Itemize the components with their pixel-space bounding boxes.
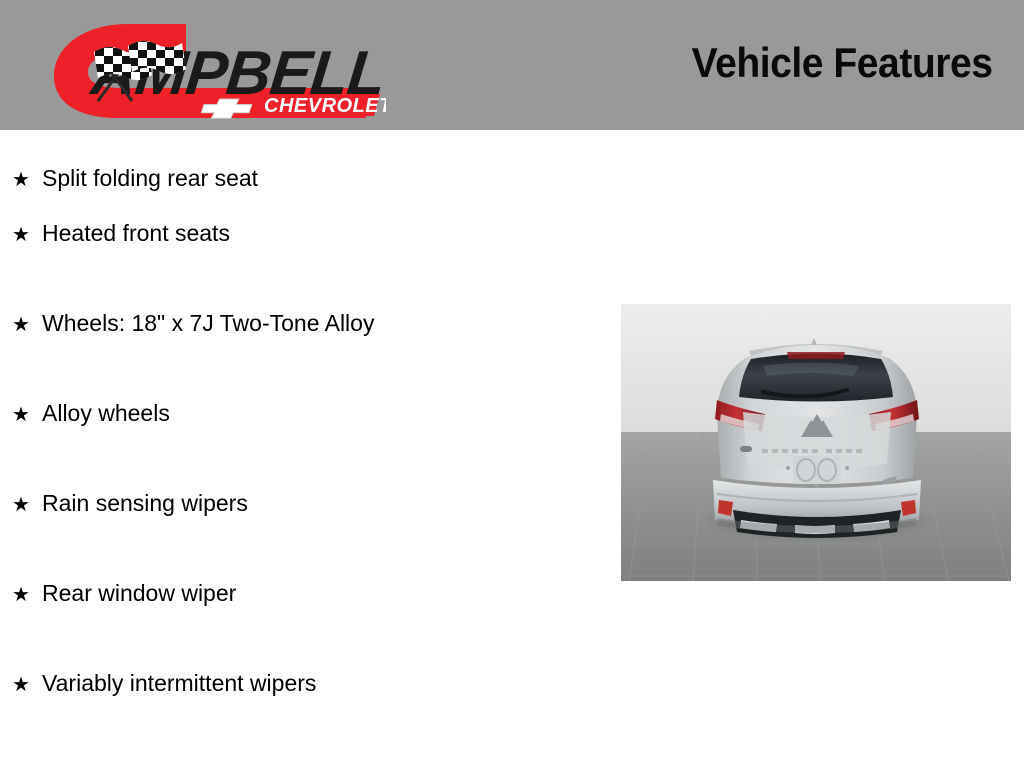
feature-label: Wheels: 18" x 7J Two-Tone Alloy xyxy=(42,310,600,336)
hatch-handle xyxy=(740,446,752,452)
vehicle-rear-photo xyxy=(621,304,1011,581)
logo-chevrolet-banner: CHEVROLET xyxy=(182,94,386,118)
feature-label: Rear window wiper xyxy=(42,580,600,606)
star-bullet-icon: ★ xyxy=(12,224,42,246)
feature-label: Alloy wheels xyxy=(42,400,600,426)
list-item: ★ Variably intermittent wipers xyxy=(0,670,600,760)
list-item: ★ Split folding rear seat xyxy=(0,130,600,220)
star-bullet-icon: ★ xyxy=(12,494,42,516)
vehicle-features-list: ★ Split folding rear seat ★ Heated front… xyxy=(0,130,600,760)
feature-label: Split folding rear seat xyxy=(42,165,600,191)
feature-label: Rain sensing wipers xyxy=(42,490,600,516)
brake-light xyxy=(787,352,845,359)
star-bullet-icon: ★ xyxy=(12,404,42,426)
star-bullet-icon: ★ xyxy=(12,584,42,606)
list-item: ★ Alloy wheels xyxy=(0,400,600,490)
license-plate-recess xyxy=(786,456,849,488)
list-item: ★ Heated front seats xyxy=(0,220,600,310)
feature-label: Variably intermittent wipers xyxy=(42,670,600,696)
feature-label: Heated front seats xyxy=(42,220,600,246)
star-bullet-icon: ★ xyxy=(12,169,42,191)
star-bullet-icon: ★ xyxy=(12,674,42,696)
mitsubishi-eclipse-cross-rear xyxy=(713,338,921,538)
campbell-chevrolet-logo[interactable]: AMPBELL xyxy=(36,16,386,122)
svg-text:CHEVROLET: CHEVROLET xyxy=(264,95,386,117)
page-title: Vehicle Features xyxy=(692,36,993,90)
list-item: ★ Wheels: 18" x 7J Two-Tone Alloy xyxy=(0,310,600,400)
list-item: ★ Rear window wiper xyxy=(0,580,600,670)
model-lettering xyxy=(762,449,862,453)
star-bullet-icon: ★ xyxy=(12,314,42,336)
list-item: ★ Rain sensing wipers xyxy=(0,490,600,580)
